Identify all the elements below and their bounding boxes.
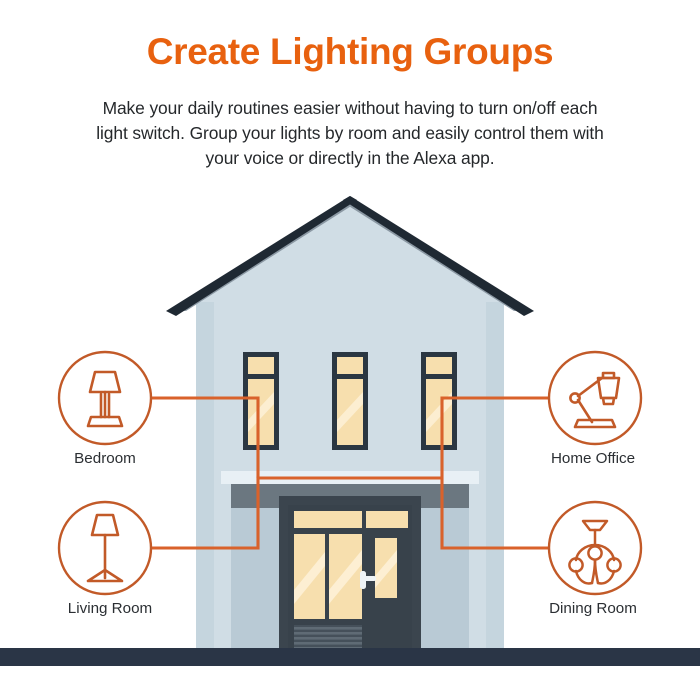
upper-window-center: [332, 352, 368, 450]
room-badge-dining-room[interactable]: [549, 502, 641, 594]
door-louver-panel: [294, 625, 362, 652]
dining-room-badge-circle: [549, 502, 641, 594]
house-wall-shade-left: [196, 300, 214, 652]
upper-window-left: [243, 352, 279, 450]
room-label-bedroom: Bedroom: [35, 450, 175, 467]
room-badge-home-office[interactable]: [549, 352, 641, 444]
room-label-home-office: Home Office: [518, 450, 668, 467]
house-gable: [196, 206, 504, 302]
room-label-living-room: Living Room: [35, 600, 185, 617]
house-wall-shade-right: [486, 300, 504, 652]
room-badge-living-room[interactable]: [59, 502, 151, 594]
door-transom-right: [366, 511, 408, 528]
room-badge-bedroom[interactable]: [59, 352, 151, 444]
room-label-dining-room: Dining Room: [518, 600, 668, 617]
ground-bar: [0, 648, 700, 666]
home-office-badge-circle: [549, 352, 641, 444]
upper-window-right: [421, 352, 457, 450]
lighting-groups-infographic: Create Lighting Groups Make your daily r…: [0, 0, 700, 700]
door-transom-left: [294, 511, 362, 528]
house-illustration: [0, 0, 700, 700]
